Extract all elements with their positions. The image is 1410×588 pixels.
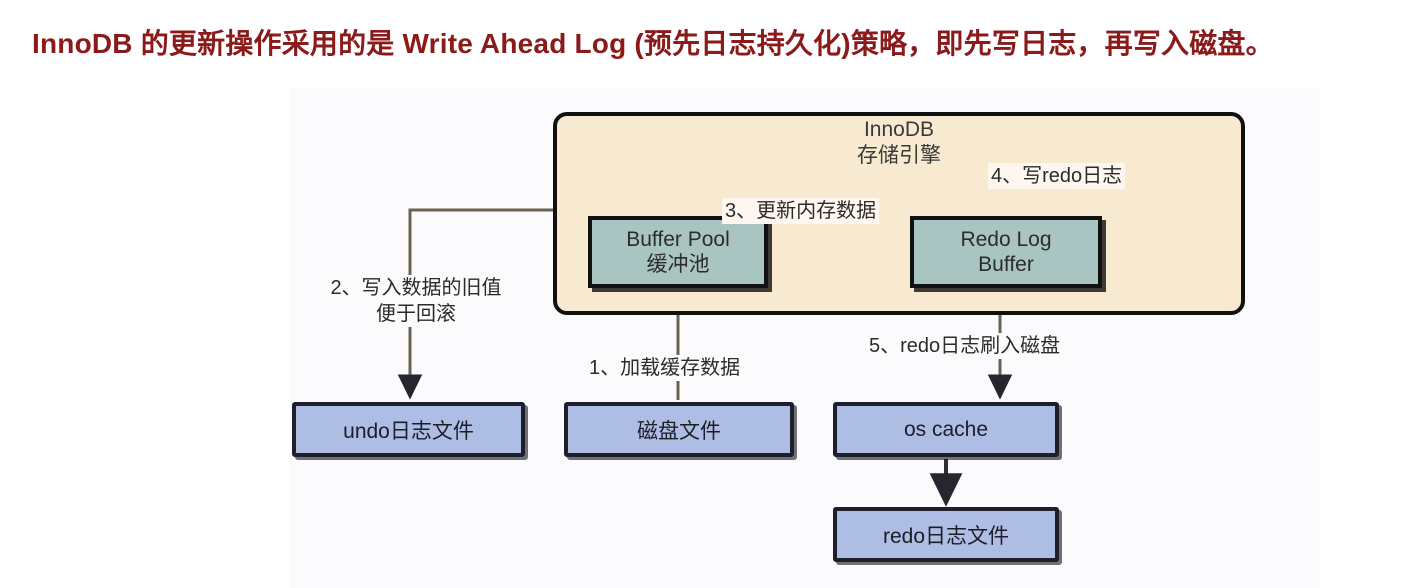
buffer-pool-label-en: Buffer Pool [626, 227, 730, 252]
undo-log-file-box: undo日志文件 [292, 402, 525, 457]
step-2-label-line2: 便于回滚 [306, 301, 526, 327]
buffer-pool-label-cn: 缓冲池 [647, 252, 710, 277]
step-2-label-line1: 2、写入数据的旧值 [306, 275, 526, 301]
step-3-label: 3、更新内存数据 [722, 198, 879, 224]
redo-log-file-label: redo日志文件 [883, 520, 1009, 550]
engine-name-cn: 存储引擎 [553, 143, 1245, 169]
step-5-label: 5、redo日志刷入磁盘 [866, 333, 1063, 359]
redo-log-file-box: redo日志文件 [833, 507, 1059, 562]
redo-log-buffer-label-line2: Buffer [978, 252, 1034, 277]
undo-log-file-label: undo日志文件 [343, 415, 474, 445]
os-cache-label: os cache [904, 418, 988, 442]
screenshot-root: InnoDB 的更新操作采用的是 Write Ahead Log (预先日志持久… [0, 0, 1410, 588]
page-title: InnoDB 的更新操作采用的是 Write Ahead Log (预先日志持久… [32, 22, 1378, 66]
step-1-label: 1、加载缓存数据 [586, 355, 743, 381]
os-cache-box: os cache [833, 402, 1059, 457]
redo-log-buffer-label-line1: Redo Log [960, 227, 1051, 252]
disk-file-label: 磁盘文件 [637, 415, 721, 445]
step-4-label: 4、写redo日志 [988, 163, 1125, 189]
engine-name-en: InnoDB [864, 118, 934, 141]
step-2-label: 2、写入数据的旧值 便于回滚 [303, 275, 529, 327]
buffer-pool-box: Buffer Pool 缓冲池 [588, 216, 768, 288]
innodb-engine-title: InnoDB 存储引擎 [553, 117, 1245, 169]
disk-file-box: 磁盘文件 [564, 402, 794, 457]
redo-log-buffer-box: Redo Log Buffer [910, 216, 1102, 288]
